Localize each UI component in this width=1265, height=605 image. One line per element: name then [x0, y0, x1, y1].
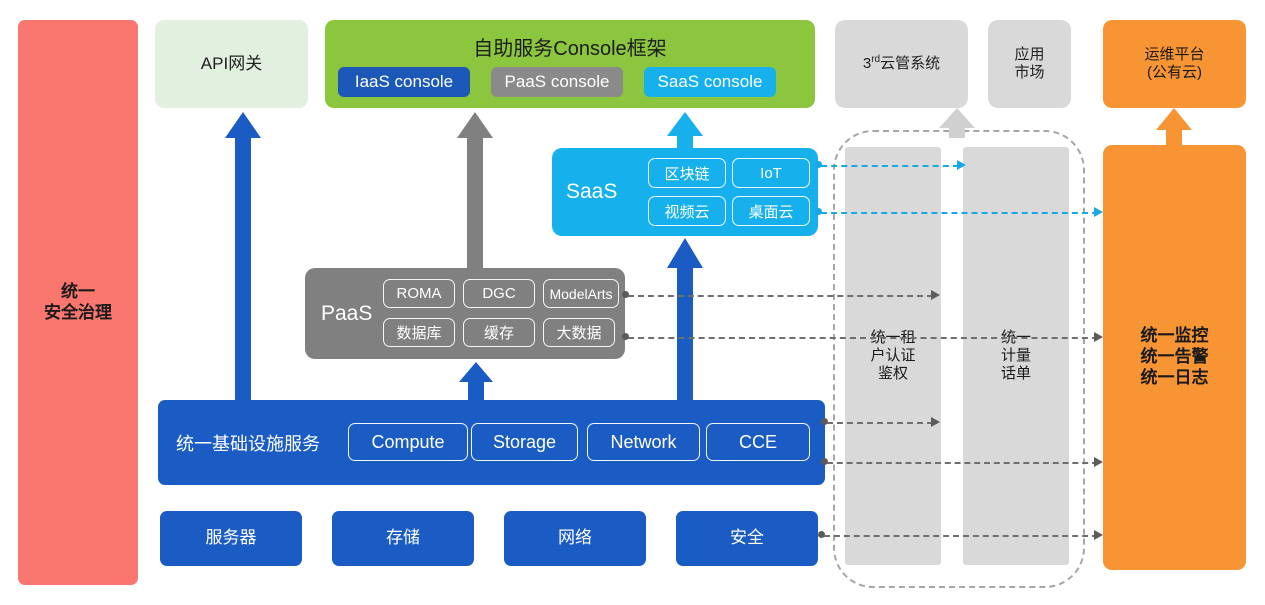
iaas-chip-network[interactable]: Network [587, 423, 700, 461]
hardware-network-label: 网络 [558, 528, 592, 549]
metering-line3: 话单 [1001, 365, 1031, 383]
iaas-bar: 统一基础设施服务 Compute Storage Network CCE [158, 400, 825, 485]
paas-chip-cache-label: 缓存 [484, 322, 514, 343]
paas-chip-dgc-label: DGC [482, 285, 515, 302]
hardware-network-box[interactable]: 网络 [504, 511, 646, 566]
metering-line2: 计量 [1001, 347, 1031, 365]
arrowhead-paas-to-auth [931, 290, 940, 300]
saas-chip-desktop-cloud[interactable]: 桌面云 [732, 196, 810, 226]
saas-chip-iot[interactable]: IoT [732, 158, 810, 188]
paas-chip-cache[interactable]: 缓存 [463, 318, 535, 347]
arrow-zone-to-third-party [935, 108, 979, 138]
hardware-server-box[interactable]: 服务器 [160, 511, 302, 566]
arrow-ops-panel-to-platform [1152, 108, 1196, 148]
arrow-iaas-to-paas [456, 362, 496, 402]
arrowhead-iaas-to-auth [931, 417, 940, 427]
saas-chip-video-cloud-label: 视频云 [664, 201, 709, 222]
paas-label: PaaS [321, 302, 372, 326]
arrowhead-saas-to-metering [957, 160, 966, 170]
connector-paas-to-auth [628, 295, 933, 297]
saas-chip-video-cloud[interactable]: 视频云 [648, 196, 726, 226]
paas-console-button[interactable]: PaaS console [491, 67, 623, 97]
ops-platform-line1: 运维平台 [1144, 46, 1204, 64]
paas-chip-modelarts-label: ModelArts [549, 286, 612, 302]
paas-chip-modelarts[interactable]: ModelArts [543, 279, 619, 308]
saas-console-button[interactable]: SaaS console [644, 67, 776, 97]
saas-chip-blockchain[interactable]: 区块链 [648, 158, 726, 188]
third-party-rest: 云管系统 [880, 55, 940, 72]
paas-chip-database[interactable]: 数据库 [383, 318, 455, 347]
ops-panel-line1: 统一监控 [1141, 326, 1209, 347]
tenant-auth-line2: 户认证 [870, 347, 915, 365]
iaas-console-button[interactable]: IaaS console [338, 67, 470, 97]
ops-panel-line2: 统一告警 [1141, 347, 1209, 368]
connector-iaas-to-ops [827, 462, 1098, 464]
saas-chip-blockchain-label: 区块链 [664, 163, 709, 184]
ops-platform-box[interactable]: 运维平台 (公有云) [1103, 20, 1246, 108]
arrowhead-hardware-to-ops [1094, 530, 1103, 540]
governance-line2: 安全治理 [44, 303, 112, 324]
paas-chip-database-label: 数据库 [396, 322, 441, 343]
connector-hardware-to-ops [824, 535, 1098, 537]
console-frame: 自助服务Console框架 IaaS console PaaS console … [325, 20, 815, 108]
metering-billing-column: 统一 计量 话单 [963, 147, 1069, 565]
iaas-chip-storage-label: Storage [493, 432, 556, 453]
paas-console-label: PaaS console [505, 72, 610, 92]
arrowhead-paas-to-ops [1094, 332, 1103, 342]
hardware-storage-box[interactable]: 存储 [332, 511, 474, 566]
saas-panel: SaaS 区块链 IoT 视频云 桌面云 [552, 148, 818, 236]
hardware-server-label: 服务器 [206, 528, 257, 549]
saas-label: SaaS [566, 180, 617, 204]
arrow-iaas-to-saas [664, 238, 706, 400]
api-gateway-box[interactable]: API网关 [155, 20, 308, 108]
saas-chip-iot-label: IoT [760, 165, 782, 182]
app-market-box[interactable]: 应用 市场 [988, 20, 1071, 108]
paas-chip-roma-label: ROMA [397, 285, 442, 302]
iaas-chip-compute[interactable]: Compute [348, 423, 468, 461]
paas-panel: PaaS ROMA DGC ModelArts 数据库 缓存 大数据 [305, 268, 625, 359]
arrow-paas-to-console [454, 112, 496, 270]
arrowhead-saas-to-ops [1094, 207, 1103, 217]
tenant-auth-column: 统一租 户认证 鉴权 [845, 147, 941, 565]
governance-panel: 统一 安全治理 [18, 20, 138, 585]
hardware-storage-label: 存储 [386, 528, 420, 549]
ops-monitoring-panel: 统一监控 统一告警 统一日志 [1103, 145, 1246, 570]
governance-line1: 统一 [44, 282, 112, 303]
connector-saas-to-metering [821, 165, 959, 167]
api-gateway-label: API网关 [201, 54, 262, 75]
third-party-sup: rd [871, 54, 880, 65]
paas-chip-dgc[interactable]: DGC [463, 279, 535, 308]
connector-iaas-to-auth [827, 422, 933, 424]
console-title: 自助服务Console框架 [325, 32, 815, 61]
iaas-chip-network-label: Network [610, 432, 676, 453]
iaas-chip-cce-label: CCE [739, 432, 777, 453]
tenant-auth-line3: 鉴权 [870, 365, 915, 383]
saas-chip-desktop-cloud-label: 桌面云 [748, 201, 793, 222]
connector-saas-to-ops [821, 212, 1098, 214]
iaas-chip-compute-label: Compute [371, 432, 444, 453]
iaas-console-label: IaaS console [355, 72, 453, 92]
iaas-label: 统一基础设施服务 [176, 430, 320, 456]
paas-chip-bigdata[interactable]: 大数据 [543, 318, 615, 347]
paas-chip-roma[interactable]: ROMA [383, 279, 455, 308]
paas-chip-bigdata-label: 大数据 [556, 322, 601, 343]
iaas-chip-cce[interactable]: CCE [706, 423, 810, 461]
arrowhead-iaas-to-ops [1094, 457, 1103, 467]
ops-platform-line2: (公有云) [1144, 64, 1204, 82]
ops-panel-line3: 统一日志 [1141, 368, 1209, 389]
arrow-iaas-to-apigw [222, 112, 264, 402]
third-party-cloud-box[interactable]: 3rd云管系统 [835, 20, 968, 108]
connector-paas-to-ops [628, 337, 1098, 339]
third-party-prefix: 3 [863, 55, 871, 72]
app-market-line1: 应用 [1014, 46, 1044, 64]
architecture-diagram: 统一 安全治理 API网关 自助服务Console框架 IaaS console… [0, 0, 1265, 605]
iaas-chip-storage[interactable]: Storage [471, 423, 578, 461]
arrow-saas-to-console [664, 112, 706, 152]
app-market-line2: 市场 [1014, 64, 1044, 82]
hardware-security-label: 安全 [730, 528, 764, 549]
hardware-security-box[interactable]: 安全 [676, 511, 818, 566]
saas-console-label: SaaS console [658, 72, 763, 92]
